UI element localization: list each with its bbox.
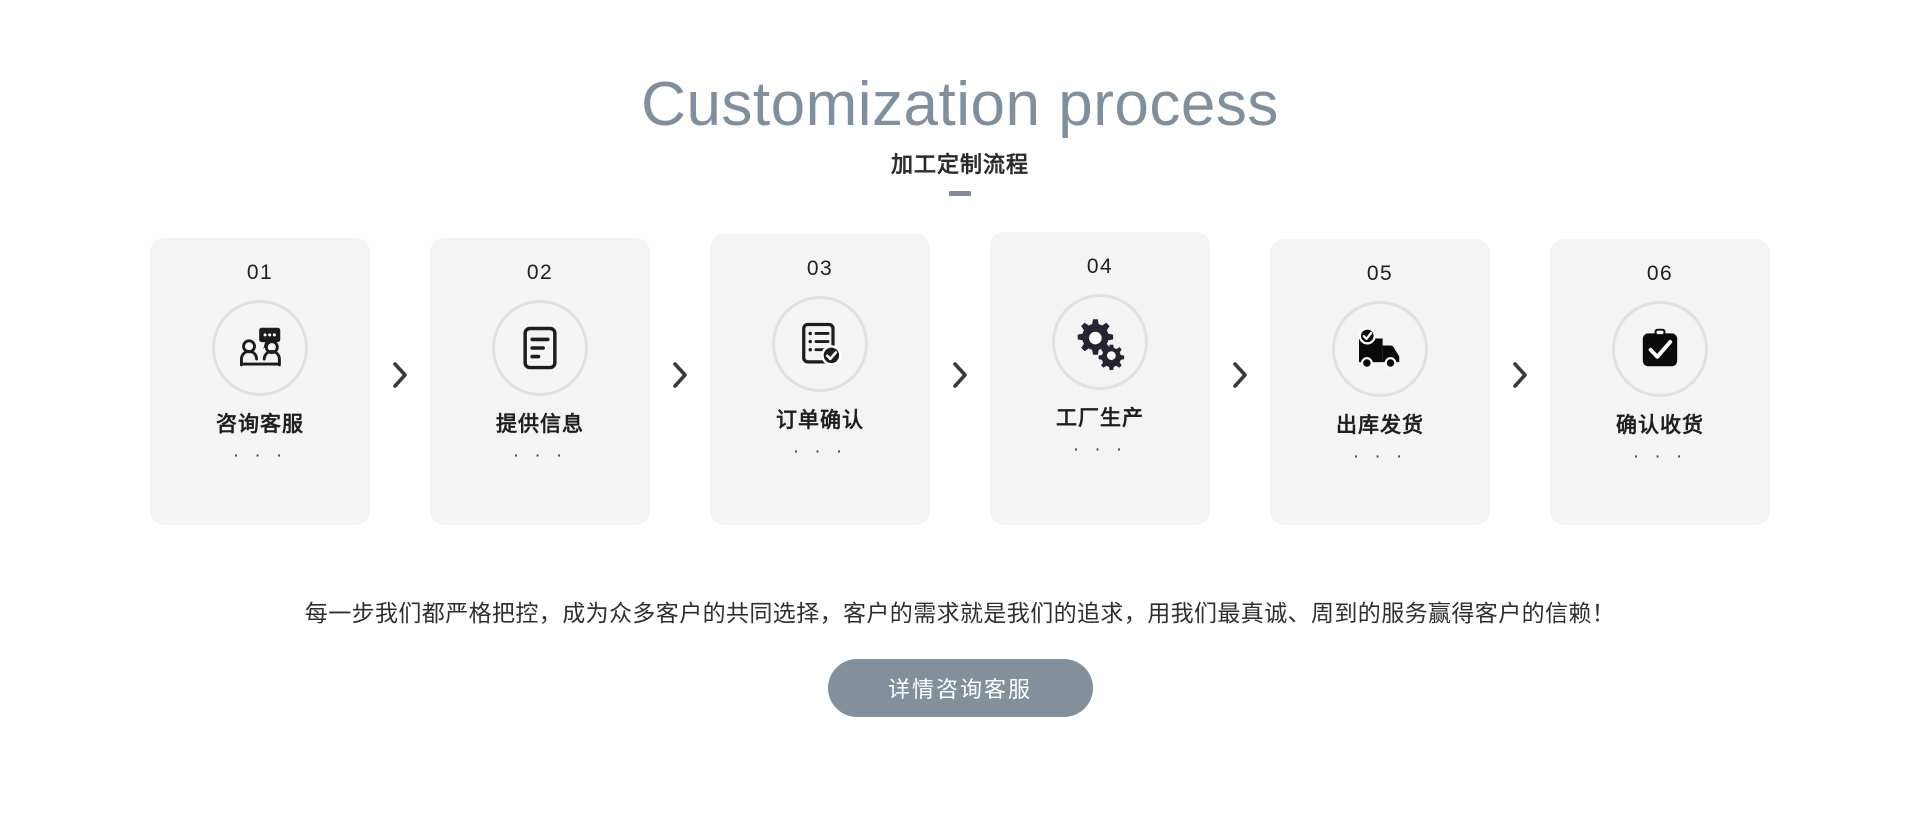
step-icon-ring	[1052, 294, 1148, 390]
step-number: 05	[1367, 263, 1393, 284]
step-dots: · · ·	[233, 446, 288, 465]
process-step-card[interactable]: 02 提供信息 · · ·	[430, 238, 650, 525]
step-wrapper: 05 出库发货 · · ·	[1270, 238, 1550, 525]
chevron-right-icon	[390, 360, 410, 390]
gears-icon	[1072, 314, 1128, 370]
step-separator	[650, 360, 710, 390]
section-footer: 每一步我们都严格把控，成为众多客户的共同选择，客户的需求就是我们的追求，用我们最…	[0, 597, 1920, 717]
step-label: 工厂生产	[1056, 408, 1144, 429]
process-step-card[interactable]: 04 工厂生产 · · ·	[990, 232, 1210, 525]
step-dots: · · ·	[1633, 447, 1688, 466]
step-number: 02	[527, 262, 553, 283]
step-icon-ring	[492, 300, 588, 396]
step-wrapper: 02 提供信息 · · ·	[430, 238, 710, 525]
contact-support-button[interactable]: 详情咨询客服	[828, 659, 1093, 717]
step-label: 确认收货	[1616, 415, 1704, 436]
step-separator	[1210, 360, 1270, 390]
process-step-card[interactable]: 03 订单确认 · · ·	[710, 234, 930, 525]
step-icon-ring	[1332, 301, 1428, 397]
page-title: Customization process	[0, 72, 1920, 137]
step-label: 咨询客服	[216, 414, 304, 435]
page-subtitle: 加工定制流程	[0, 147, 1920, 179]
chevron-right-icon	[1510, 360, 1530, 390]
step-icon-ring	[772, 296, 868, 392]
step-separator	[370, 360, 430, 390]
cta-container: 详情咨询客服	[0, 659, 1920, 717]
step-wrapper: 03 订单确认 · · ·	[710, 238, 990, 525]
process-steps-row: 01 咨询客服 · · ·	[0, 238, 1920, 525]
step-dots: · · ·	[793, 442, 848, 461]
step-icon-ring	[212, 300, 308, 396]
step-icon-ring	[1612, 301, 1708, 397]
step-wrapper: 04 工厂生产 · · ·	[990, 238, 1270, 525]
step-wrapper: 01 咨询客服 · · ·	[150, 238, 430, 525]
step-separator	[930, 360, 990, 390]
step-wrapper: 06 确认收货 · · ·	[1550, 238, 1770, 525]
process-step-card[interactable]: 05 出库发货 · · ·	[1270, 239, 1490, 525]
step-number: 01	[247, 262, 273, 283]
customization-process-section: Customization process 加工定制流程 01	[0, 0, 1920, 818]
process-step-card[interactable]: 06 确认收货 · · ·	[1550, 239, 1770, 525]
process-step-card[interactable]: 01 咨询客服 · · ·	[150, 238, 370, 525]
title-divider	[949, 191, 971, 196]
footer-description: 每一步我们都严格把控，成为众多客户的共同选择，客户的需求就是我们的追求，用我们最…	[0, 597, 1920, 629]
chevron-right-icon	[950, 360, 970, 390]
step-dots: · · ·	[1353, 447, 1408, 466]
step-dots: · · ·	[1073, 440, 1128, 459]
delivery-truck-icon	[1352, 321, 1408, 377]
step-dots: · · ·	[513, 446, 568, 465]
document-lines-icon	[515, 323, 565, 373]
step-number: 04	[1087, 256, 1113, 277]
chevron-right-icon	[1230, 360, 1250, 390]
chevron-right-icon	[670, 360, 690, 390]
section-header: Customization process 加工定制流程	[0, 0, 1920, 196]
step-label: 出库发货	[1336, 415, 1424, 436]
customer-service-icon	[233, 321, 287, 375]
checklist-confirm-icon	[794, 318, 846, 370]
clipboard-check-icon	[1635, 324, 1685, 374]
step-number: 06	[1647, 263, 1673, 284]
step-label: 提供信息	[496, 414, 584, 435]
step-label: 订单确认	[776, 410, 864, 431]
step-separator	[1490, 360, 1550, 390]
step-number: 03	[807, 258, 833, 279]
